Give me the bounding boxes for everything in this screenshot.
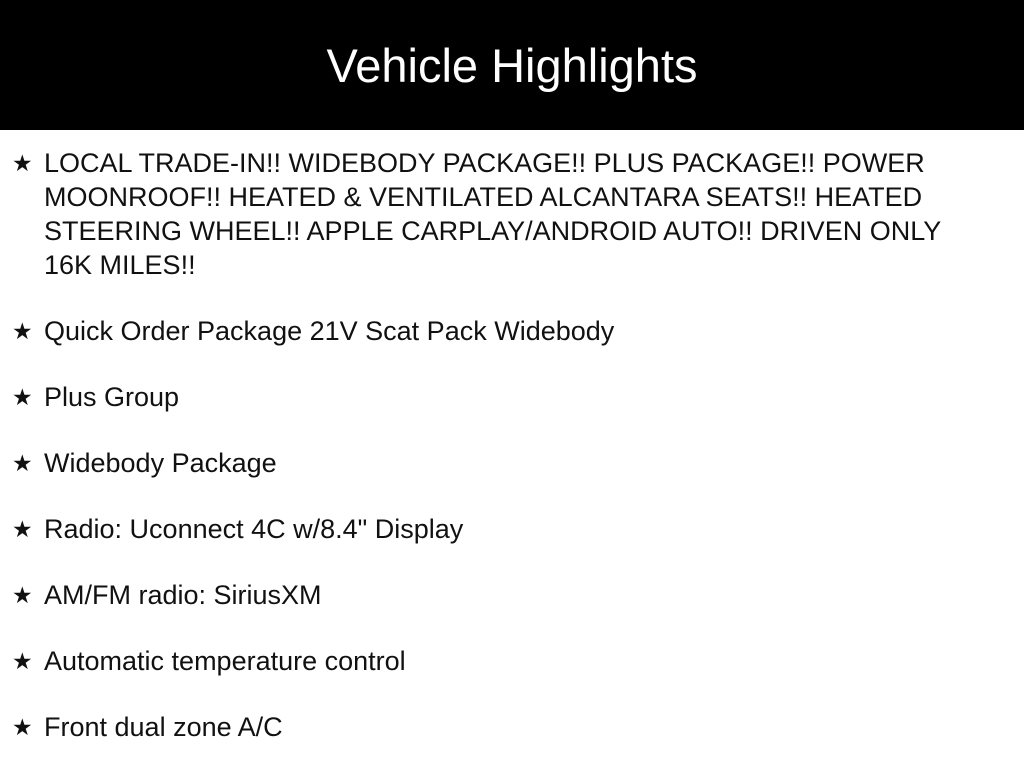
star-bullet-icon: ★ bbox=[12, 146, 44, 180]
list-item-label: Front dual zone A/C bbox=[44, 710, 976, 744]
list-item-label: AM/FM radio: SiriusXM bbox=[44, 578, 976, 612]
list-item-label: LOCAL TRADE-IN!! WIDEBODY PACKAGE!! PLUS… bbox=[44, 146, 976, 282]
star-bullet-icon: ★ bbox=[12, 380, 44, 414]
star-bullet-icon: ★ bbox=[12, 512, 44, 546]
list-item: ★ Quick Order Package 21V Scat Pack Wide… bbox=[12, 314, 1004, 348]
list-item: ★ AM/FM radio: SiriusXM bbox=[12, 578, 1004, 612]
star-bullet-icon: ★ bbox=[12, 314, 44, 348]
star-bullet-icon: ★ bbox=[12, 446, 44, 480]
page-title: Vehicle Highlights bbox=[327, 42, 698, 89]
header-bar: Vehicle Highlights bbox=[0, 0, 1024, 130]
list-item: ★ LOCAL TRADE-IN!! WIDEBODY PACKAGE!! PL… bbox=[12, 146, 1004, 282]
vehicle-highlights-page: Vehicle Highlights ★ LOCAL TRADE-IN!! WI… bbox=[0, 0, 1024, 768]
highlights-list: ★ LOCAL TRADE-IN!! WIDEBODY PACKAGE!! PL… bbox=[0, 130, 1024, 744]
list-item-label: Automatic temperature control bbox=[44, 644, 976, 678]
list-item: ★ Radio: Uconnect 4C w/8.4" Display bbox=[12, 512, 1004, 546]
list-item: ★ Widebody Package bbox=[12, 446, 1004, 480]
list-item: ★ Plus Group bbox=[12, 380, 1004, 414]
list-item-label: Quick Order Package 21V Scat Pack Widebo… bbox=[44, 314, 976, 348]
list-item-label: Plus Group bbox=[44, 380, 976, 414]
list-item: ★ Automatic temperature control bbox=[12, 644, 1004, 678]
list-item-label: Widebody Package bbox=[44, 446, 976, 480]
list-item: ★ Front dual zone A/C bbox=[12, 710, 1004, 744]
list-item-label: Radio: Uconnect 4C w/8.4" Display bbox=[44, 512, 976, 546]
star-bullet-icon: ★ bbox=[12, 578, 44, 612]
star-bullet-icon: ★ bbox=[12, 644, 44, 678]
star-bullet-icon: ★ bbox=[12, 710, 44, 744]
